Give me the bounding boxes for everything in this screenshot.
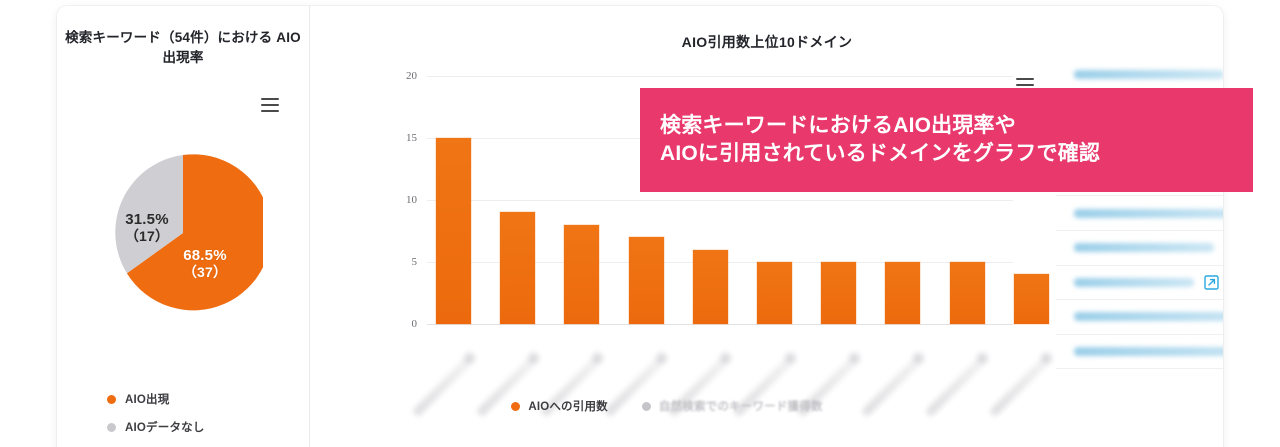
bar[interactable]	[757, 262, 792, 324]
bar[interactable]	[500, 212, 535, 324]
bar-chart-legend: AIOへの引用数 自然検索でのキーワード獲得数	[311, 398, 1023, 414]
domain-list-row[interactable]: ▼	[1056, 231, 1223, 266]
aio-rate-panel: 検索キーワード（54件）における AIO出現率 68.5% （37） 31.5%	[57, 6, 310, 447]
domain-link[interactable]	[1074, 278, 1194, 287]
domain-list-row[interactable]: ▼	[1056, 196, 1223, 231]
legend-dot-icon	[107, 423, 116, 432]
y-axis-tick-label: 20	[383, 70, 417, 82]
promo-banner-line-1: 検索キーワードにおけるAIO出現率や	[660, 112, 1253, 140]
domain-link[interactable]	[1074, 312, 1223, 321]
domain-link[interactable]	[1074, 209, 1223, 218]
bar[interactable]	[693, 250, 728, 324]
external-link-icon[interactable]	[1204, 275, 1219, 290]
bar[interactable]	[564, 225, 599, 324]
promo-banner-line-2: AIOに引用されているドメインをグラフで確認	[660, 140, 1253, 168]
chart-title: AIO引用数上位10ドメイン	[311, 32, 1223, 52]
bar[interactable]	[821, 262, 856, 324]
legend-dot-icon	[107, 395, 116, 404]
domain-link[interactable]	[1074, 70, 1223, 79]
legend-item-aio-citations[interactable]: AIOへの引用数	[511, 398, 608, 414]
pie-legend-label: AIO出現	[125, 391, 169, 407]
dashboard-card: 検索キーワード（54件）における AIO出現率 68.5% （37） 31.5%	[57, 6, 1223, 447]
legend-dot-icon	[511, 402, 520, 411]
y-axis-tick-label: 0	[383, 318, 417, 330]
promo-banner: 検索キーワードにおけるAIO出現率や AIOに引用されているドメインをグラフで確…	[640, 88, 1253, 192]
domain-list-row[interactable]: ▼	[1056, 300, 1223, 335]
aio-rate-pie-chart: 68.5% （37） 31.5% （17）	[103, 153, 263, 313]
pie-legend-item-aio-present[interactable]: AIO出現	[107, 391, 205, 407]
legend-label: 自然検索でのキーワード獲得数	[659, 398, 823, 414]
bar[interactable]	[629, 237, 664, 324]
screenshot-root: 検索キーワード（54件）における AIO出現率 68.5% （37） 31.5%	[0, 0, 1280, 447]
hamburger-menu-icon[interactable]	[261, 98, 279, 112]
bar[interactable]	[436, 138, 471, 324]
legend-item-organic-keywords[interactable]: 自然検索でのキーワード獲得数	[642, 398, 823, 414]
pie-legend-label: AIOデータなし	[125, 419, 205, 435]
y-axis-tick-label: 10	[383, 194, 417, 206]
y-axis-tick-label: 15	[383, 132, 417, 144]
bar[interactable]	[1014, 274, 1049, 324]
bar[interactable]	[885, 262, 920, 324]
legend-label: AIOへの引用数	[528, 398, 608, 414]
legend-dot-icon	[642, 402, 651, 411]
x-axis-labels	[427, 362, 1023, 432]
pie-panel-title: 検索キーワード（54件）における AIO出現率	[57, 28, 309, 67]
domain-link[interactable]	[1074, 347, 1223, 356]
top-domains-panel: AIO引用数上位10ドメイン 05101520 AIOへの引用数 自然検索でのキ…	[311, 6, 1223, 447]
y-axis-tick-label: 5	[383, 256, 417, 268]
x-axis-line	[427, 324, 1013, 325]
pie-legend: AIO出現 AIOデータなし	[107, 391, 205, 447]
domain-list-row[interactable]: ▼	[1056, 266, 1223, 301]
domain-link[interactable]	[1074, 243, 1214, 252]
pie-svg	[103, 153, 263, 313]
bar[interactable]	[950, 262, 985, 324]
pie-legend-item-no-aio-data[interactable]: AIOデータなし	[107, 419, 205, 435]
domain-list-row[interactable]: ▼	[1056, 335, 1223, 370]
